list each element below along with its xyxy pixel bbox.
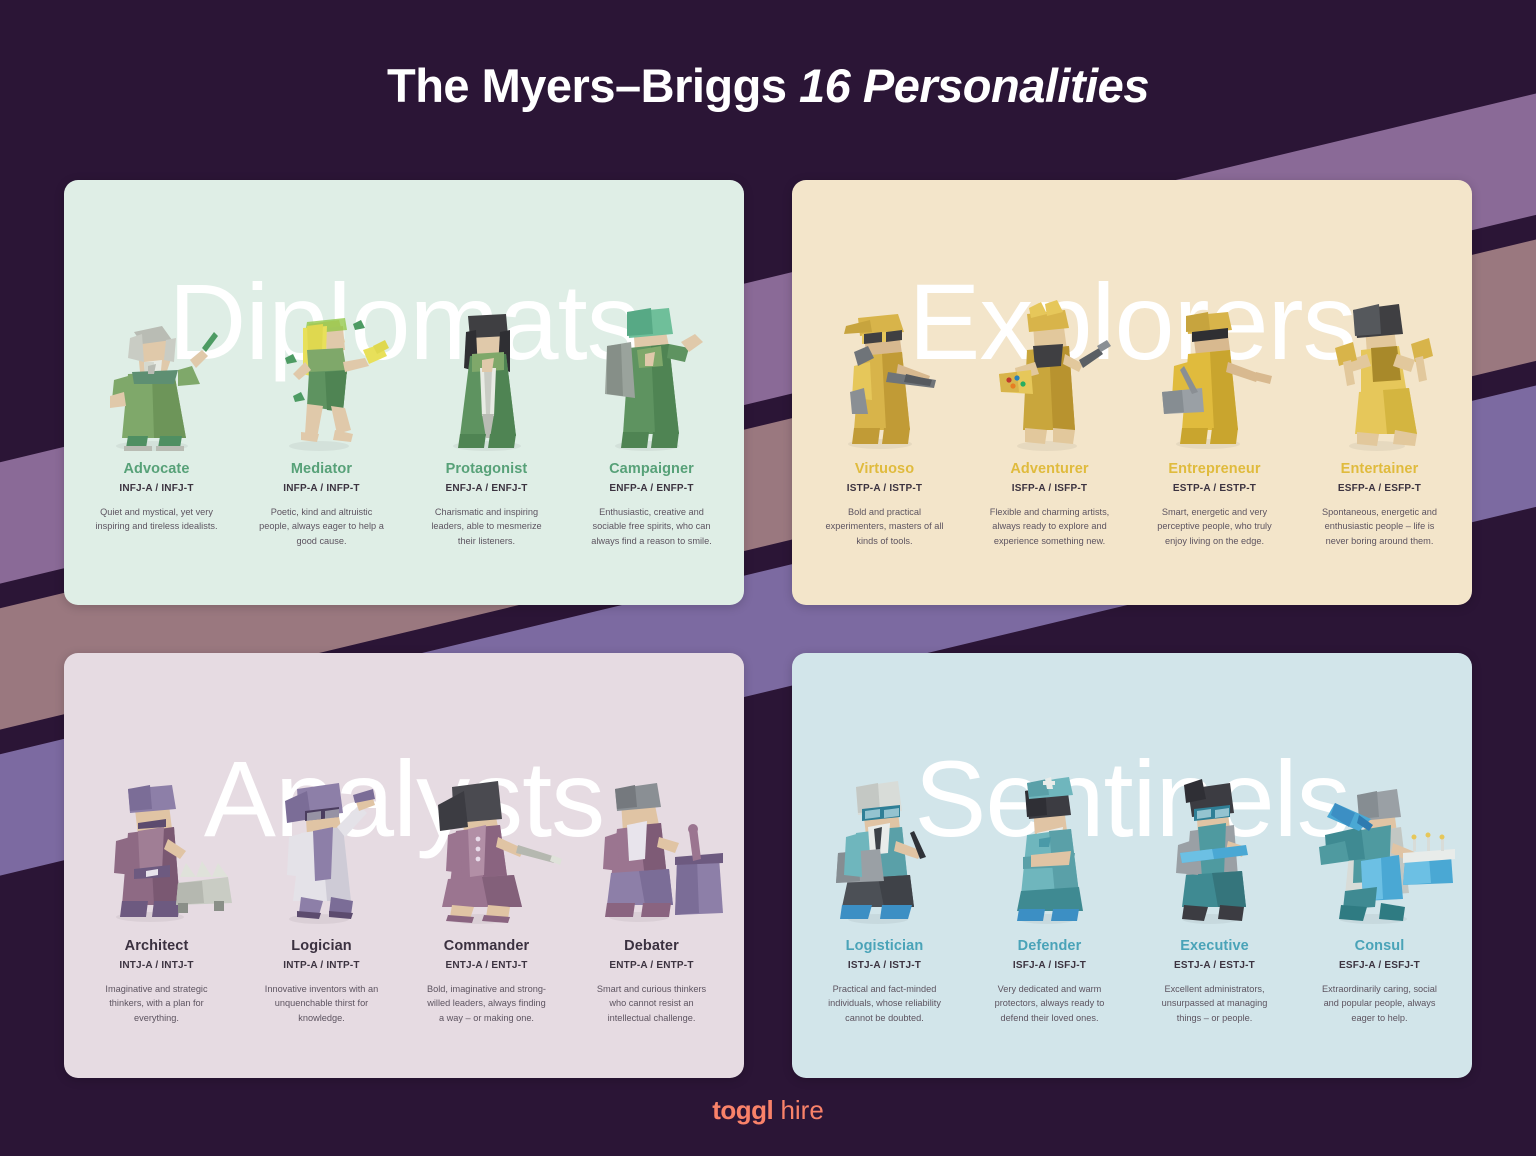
debater-figure <box>577 765 727 930</box>
type-card-executive[interactable]: Executive ESTJ-A / ESTJ-T Excellent admi… <box>1132 653 1297 1078</box>
type-description: Practical and fact-minded individuals, w… <box>822 982 947 1025</box>
type-description: Innovative inventors with an unquenchabl… <box>259 982 384 1025</box>
virtuoso-figure <box>810 288 960 453</box>
type-card-protagonist[interactable]: Protagonist ENFJ-A / ENFJ-T Charismatic … <box>404 180 569 605</box>
type-code: ESFJ-A / ESFJ-T <box>1339 960 1420 971</box>
type-description: Smart and curious thinkers who cannot re… <box>589 982 714 1025</box>
type-name: Debater <box>624 938 679 954</box>
type-code: ESFP-A / ESFP-T <box>1338 483 1421 494</box>
type-description: Charismatic and inspiring leaders, able … <box>424 505 549 548</box>
type-code: ENFJ-A / ENFJ-T <box>445 483 527 494</box>
type-code: INFJ-A / INFJ-T <box>119 483 193 494</box>
type-description: Very dedicated and warm protectors, alwa… <box>987 982 1112 1025</box>
type-name: Entertainer <box>1341 461 1419 477</box>
type-code: ISTP-A / ISTP-T <box>847 483 922 494</box>
type-list-analysts: Architect INTJ-A / INTJ-T Imaginative an… <box>64 653 744 1078</box>
type-name: Adventurer <box>1010 461 1088 477</box>
logician-figure <box>247 765 397 930</box>
type-card-defender[interactable]: Defender ISFJ-A / ISFJ-T Very dedicated … <box>967 653 1132 1078</box>
type-description: Quiet and mystical, yet very inspiring a… <box>94 505 219 534</box>
type-description: Enthusiastic, creative and sociable free… <box>589 505 714 548</box>
entrepreneur-figure <box>1140 288 1290 453</box>
title-part-regular: The Myers–Briggs <box>387 59 799 112</box>
type-description: Bold, imaginative and strong-willed lead… <box>424 982 549 1025</box>
type-list-explorers: Virtuoso ISTP-A / ISTP-T Bold and practi… <box>792 180 1472 605</box>
type-description: Excellent administrators, unsurpassed at… <box>1152 982 1277 1025</box>
type-description: Spontaneous, energetic and enthusiastic … <box>1317 505 1442 548</box>
group-card-explorers: Explorers <box>792 180 1472 605</box>
advocate-figure <box>82 288 232 453</box>
adventurer-figure <box>975 288 1125 453</box>
type-name: Entrepreneur <box>1168 461 1260 477</box>
type-card-entrepreneur[interactable]: Entrepreneur ESTP-A / ESTP-T Smart, ener… <box>1132 180 1297 605</box>
type-name: Logician <box>291 938 351 954</box>
type-description: Poetic, kind and altruistic people, alwa… <box>259 505 384 548</box>
type-code: ISTJ-A / ISTJ-T <box>848 960 921 971</box>
type-card-logician[interactable]: Logician INTP-A / INTP-T Innovative inve… <box>239 653 404 1078</box>
consul-figure <box>1305 765 1455 930</box>
type-description: Flexible and charming artists, always re… <box>987 505 1112 548</box>
type-name: Executive <box>1180 938 1249 954</box>
type-list-diplomats: Advocate INFJ-A / INFJ-T Quiet and mysti… <box>64 180 744 605</box>
type-description: Extraordinarily caring, social and popul… <box>1317 982 1442 1025</box>
type-code: ESTJ-A / ESTJ-T <box>1174 960 1255 971</box>
type-card-logistician[interactable]: Logistician ISTJ-A / ISTJ-T Practical an… <box>802 653 967 1078</box>
type-code: ISFP-A / ISFP-T <box>1012 483 1087 494</box>
personality-groups-grid: Diplomats <box>64 180 1472 1078</box>
type-name: Commander <box>444 938 530 954</box>
type-code: ESTP-A / ESTP-T <box>1173 483 1256 494</box>
type-code: INFP-A / INFP-T <box>283 483 360 494</box>
campaigner-figure <box>577 288 727 453</box>
protagonist-figure <box>412 288 562 453</box>
type-description: Smart, energetic and very perceptive peo… <box>1152 505 1277 548</box>
type-card-debater[interactable]: Debater ENTP-A / ENTP-T Smart and curiou… <box>569 653 734 1078</box>
type-name: Logistician <box>846 938 924 954</box>
executive-figure <box>1140 765 1290 930</box>
defender-figure <box>975 765 1125 930</box>
type-name: Defender <box>1018 938 1082 954</box>
type-name: Consul <box>1355 938 1405 954</box>
type-name: Architect <box>125 938 189 954</box>
mediator-figure <box>247 288 397 453</box>
commander-figure <box>412 765 562 930</box>
logistician-figure <box>810 765 960 930</box>
type-code: ISFJ-A / ISFJ-T <box>1013 960 1086 971</box>
type-name: Campaigner <box>609 461 694 477</box>
type-name: Protagonist <box>446 461 528 477</box>
title-part-italic: 16 Personalities <box>799 59 1149 112</box>
type-card-adventurer[interactable]: Adventurer ISFP-A / ISFP-T Flexible and … <box>967 180 1132 605</box>
type-name: Advocate <box>123 461 189 477</box>
entertainer-figure <box>1305 288 1455 453</box>
type-card-campaigner[interactable]: Campaigner ENFP-A / ENFP-T Enthusiastic,… <box>569 180 734 605</box>
type-card-mediator[interactable]: Mediator INFP-A / INFP-T Poetic, kind an… <box>239 180 404 605</box>
type-description: Imaginative and strategic thinkers, with… <box>94 982 219 1025</box>
type-code: ENTP-A / ENTP-T <box>609 960 693 971</box>
group-card-sentinels: Sentinels <box>792 653 1472 1078</box>
group-card-analysts: Analysts <box>64 653 744 1078</box>
footer-logo[interactable]: toggl hire <box>0 1095 1536 1126</box>
type-card-architect[interactable]: Architect INTJ-A / INTJ-T Imaginative an… <box>74 653 239 1078</box>
hire-wordmark: hire <box>773 1095 824 1125</box>
type-card-entertainer[interactable]: Entertainer ESFP-A / ESFP-T Spontaneous,… <box>1297 180 1462 605</box>
type-card-commander[interactable]: Commander ENTJ-A / ENTJ-T Bold, imaginat… <box>404 653 569 1078</box>
type-code: ENTJ-A / ENTJ-T <box>445 960 527 971</box>
type-card-virtuoso[interactable]: Virtuoso ISTP-A / ISTP-T Bold and practi… <box>802 180 967 605</box>
type-code: INTJ-A / INTJ-T <box>119 960 193 971</box>
type-description: Bold and practical experimenters, master… <box>822 505 947 548</box>
type-card-advocate[interactable]: Advocate INFJ-A / INFJ-T Quiet and mysti… <box>74 180 239 605</box>
group-card-diplomats: Diplomats <box>64 180 744 605</box>
type-code: ENFP-A / ENFP-T <box>609 483 693 494</box>
type-list-sentinels: Logistician ISTJ-A / ISTJ-T Practical an… <box>792 653 1472 1078</box>
toggl-wordmark: toggl <box>712 1095 773 1125</box>
type-card-consul[interactable]: Consul ESFJ-A / ESFJ-T Extraordinarily c… <box>1297 653 1462 1078</box>
page-title: The Myers–Briggs 16 Personalities <box>0 58 1536 113</box>
type-code: INTP-A / INTP-T <box>283 960 360 971</box>
architect-figure <box>82 765 232 930</box>
type-name: Virtuoso <box>855 461 914 477</box>
type-name: Mediator <box>291 461 352 477</box>
